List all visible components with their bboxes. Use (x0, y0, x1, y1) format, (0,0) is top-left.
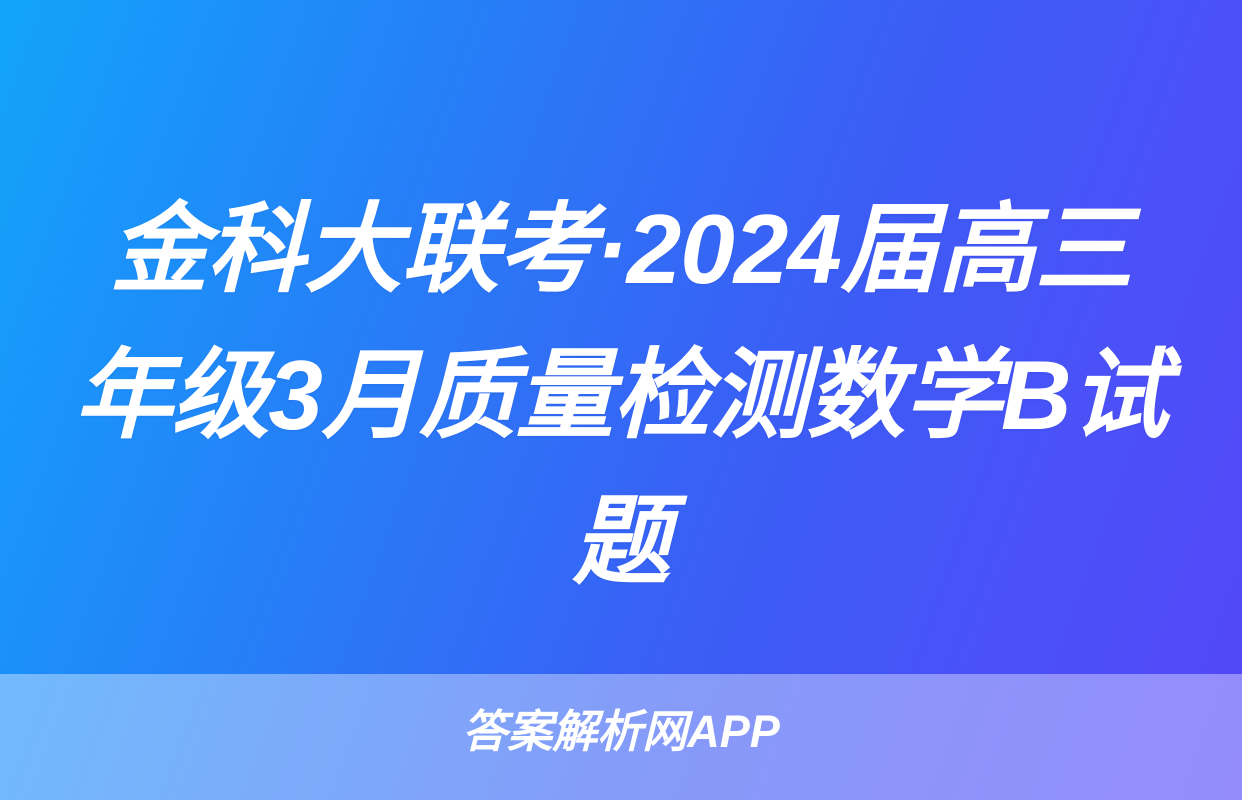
watermark-text: 答案解析网APP (462, 704, 780, 760)
title-card-page: 金科大联考·2024届高三年级3月质量检测数学B试题 答案解析网APP (0, 0, 1242, 800)
watermark: 答案解析网APP (0, 704, 1242, 760)
page-title: 金科大联考·2024届高三年级3月质量检测数学B试题 (74, 176, 1168, 614)
page-title-block: 金科大联考·2024届高三年级3月质量检测数学B试题 (0, 176, 1242, 614)
